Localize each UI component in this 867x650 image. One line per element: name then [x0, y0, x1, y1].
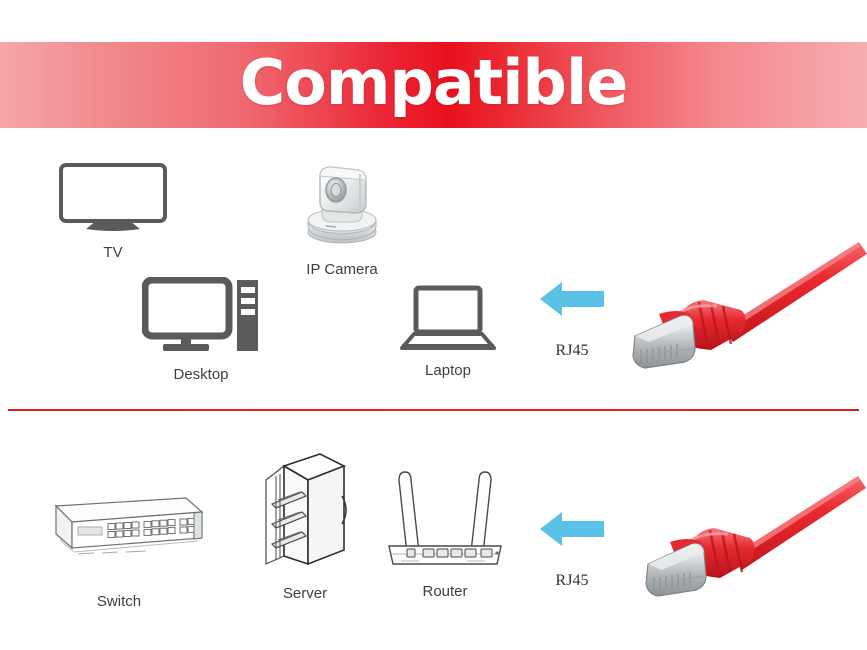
section-divider — [8, 409, 859, 411]
device-switch-label: Switch — [97, 593, 141, 610]
device-ip-camera: IP Camera — [296, 158, 388, 278]
device-server-label: Server — [283, 585, 327, 602]
network-switch-icon — [34, 496, 204, 567]
device-ip-camera-label: IP Camera — [306, 261, 377, 278]
server-rack-icon — [258, 452, 352, 575]
connector-rj45-bottom-label: RJ45 — [556, 572, 589, 590]
rj45-patch-cable-top — [625, 232, 867, 377]
device-desktop-label: Desktop — [173, 366, 228, 383]
connector-rj45-top: RJ45 — [538, 278, 606, 360]
compatible-banner: Compatible — [0, 42, 867, 128]
device-router-label: Router — [422, 583, 467, 600]
device-server: Server — [258, 452, 352, 602]
device-laptop-label: Laptop — [425, 362, 471, 379]
device-laptop: Laptop — [400, 285, 496, 379]
arrow-left-icon — [538, 508, 606, 550]
connector-rj45-bottom: RJ45 — [538, 508, 606, 590]
device-desktop: Desktop — [142, 277, 260, 383]
connector-rj45-top-label: RJ45 — [556, 342, 589, 360]
device-router: Router — [385, 458, 505, 600]
ip-camera-icon — [296, 158, 388, 255]
device-tv-label: TV — [103, 244, 122, 261]
rj45-patch-cable-bottom — [640, 468, 867, 603]
arrow-left-icon — [538, 278, 606, 320]
desktop-icon — [142, 277, 260, 360]
laptop-icon — [400, 285, 496, 356]
device-tv: TV — [58, 163, 168, 261]
wifi-router-icon — [385, 458, 505, 575]
tv-icon — [58, 163, 168, 238]
page-title: Compatible — [240, 52, 628, 118]
device-switch: Switch — [34, 496, 204, 610]
